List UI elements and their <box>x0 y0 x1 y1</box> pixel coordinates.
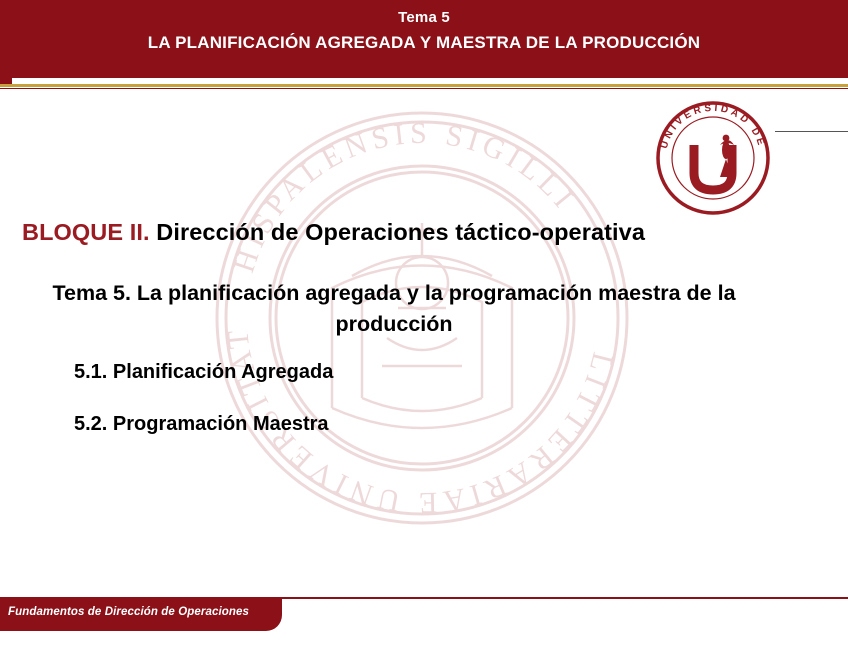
outline-item-5-1: 5.1. Planificación Agregada <box>74 361 333 384</box>
svg-text:UNIVERSIDAD DE SEVILLA: UNIVERSIDAD DE SEVILLA <box>647 100 768 155</box>
slide-header-banner: Tema 5 LA PLANIFICACIÓN AGREGADA Y MAEST… <box>0 0 848 78</box>
tema-title: Tema 5. La planificación agregada y la p… <box>34 278 754 340</box>
footer-text: Fundamentos de Dirección de Operaciones <box>8 606 276 618</box>
bloque-heading: BLOQUE II. Dirección de Operaciones táct… <box>22 219 722 246</box>
outline-item-5-2: 5.2. Programación Maestra <box>74 413 329 436</box>
bloque-rest: Dirección de Operaciones táctico-operati… <box>150 219 645 245</box>
slide: Tema 5 LA PLANIFICACIÓN AGREGADA Y MAEST… <box>0 0 848 655</box>
header-thin-rule <box>0 88 848 89</box>
bloque-prefix: BLOQUE II. <box>22 219 150 245</box>
svg-text:HISPALENSIS SIGILLI: HISPALENSIS SIGILLI <box>227 117 582 277</box>
universidad-de-sevilla-logo-icon: UNIVERSIDAD DE SEVILLA <box>647 100 779 224</box>
header-title-line1: Tema 5 <box>0 9 848 26</box>
header-title-line2: LA PLANIFICACIÓN AGREGADA Y MAESTRA DE L… <box>0 33 848 53</box>
header-gold-rule <box>0 84 848 87</box>
logo-divider <box>775 131 848 132</box>
